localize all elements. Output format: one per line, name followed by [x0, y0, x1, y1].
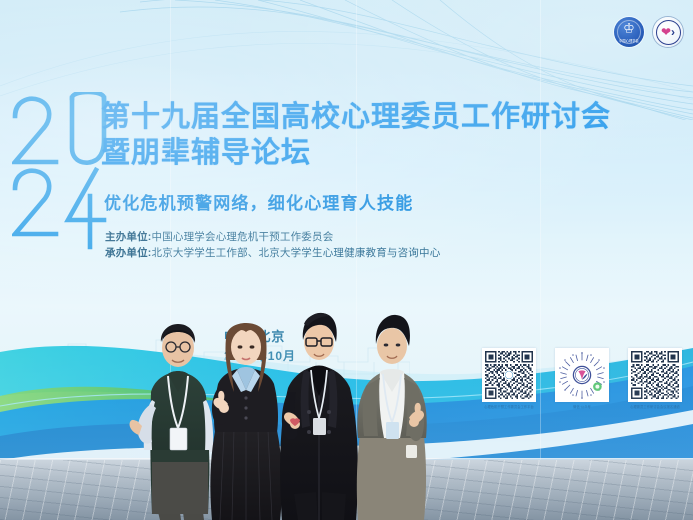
person-3 — [280, 313, 358, 520]
event-title: 第十九届全国高校心理委员工作研讨会 暨朋辈辅导论坛 — [101, 99, 676, 171]
person-1 — [130, 324, 214, 520]
host-organization-value: 中国心理学会心理危机干预工作委员会 — [152, 231, 334, 243]
year-2024-graphic — [12, 92, 108, 250]
chinese-psychological-society-logo: ♔ 中国心理学会 — [614, 17, 644, 47]
host-organization-line: 主办单位:中国心理学会心理危机干预工作委员会 — [105, 230, 333, 245]
event-title-line-1: 第十九届全国高校心理委员工作研讨会 — [101, 99, 676, 135]
event-title-line-2: 暨朋辈辅导论坛 — [101, 135, 676, 171]
pku-counseling-center-logo: ❤› — [653, 17, 683, 47]
dove-icon: ♔ — [623, 21, 635, 34]
co-organizer-label: 承办单位: — [105, 247, 152, 259]
event-subtitle: 优化危机预警网络，细化心理育人技能 — [104, 193, 413, 215]
group-photo-people — [0, 300, 693, 520]
organization-logos: ♔ 中国心理学会 ❤› — [614, 17, 683, 47]
host-organization-label: 主办单位: — [105, 231, 152, 243]
co-organizer-value: 北京大学学生工作部、北京大学学生心理健康教育与咨询中心 — [152, 247, 441, 259]
logo-caption: 中国心理学会 — [614, 38, 644, 43]
co-organizer-line: 承办单位:北京大学学生工作部、北京大学学生心理健康教育与咨询中心 — [105, 246, 440, 261]
person-4 — [357, 315, 427, 520]
person-2 — [210, 323, 282, 520]
conference-photo-screenshot: 第十九届全国高校心理委员工作研讨会 暨朋辈辅导论坛 优化危机预警网络，细化心理育… — [0, 0, 693, 520]
heart-wing-icon: ❤› — [661, 26, 675, 38]
